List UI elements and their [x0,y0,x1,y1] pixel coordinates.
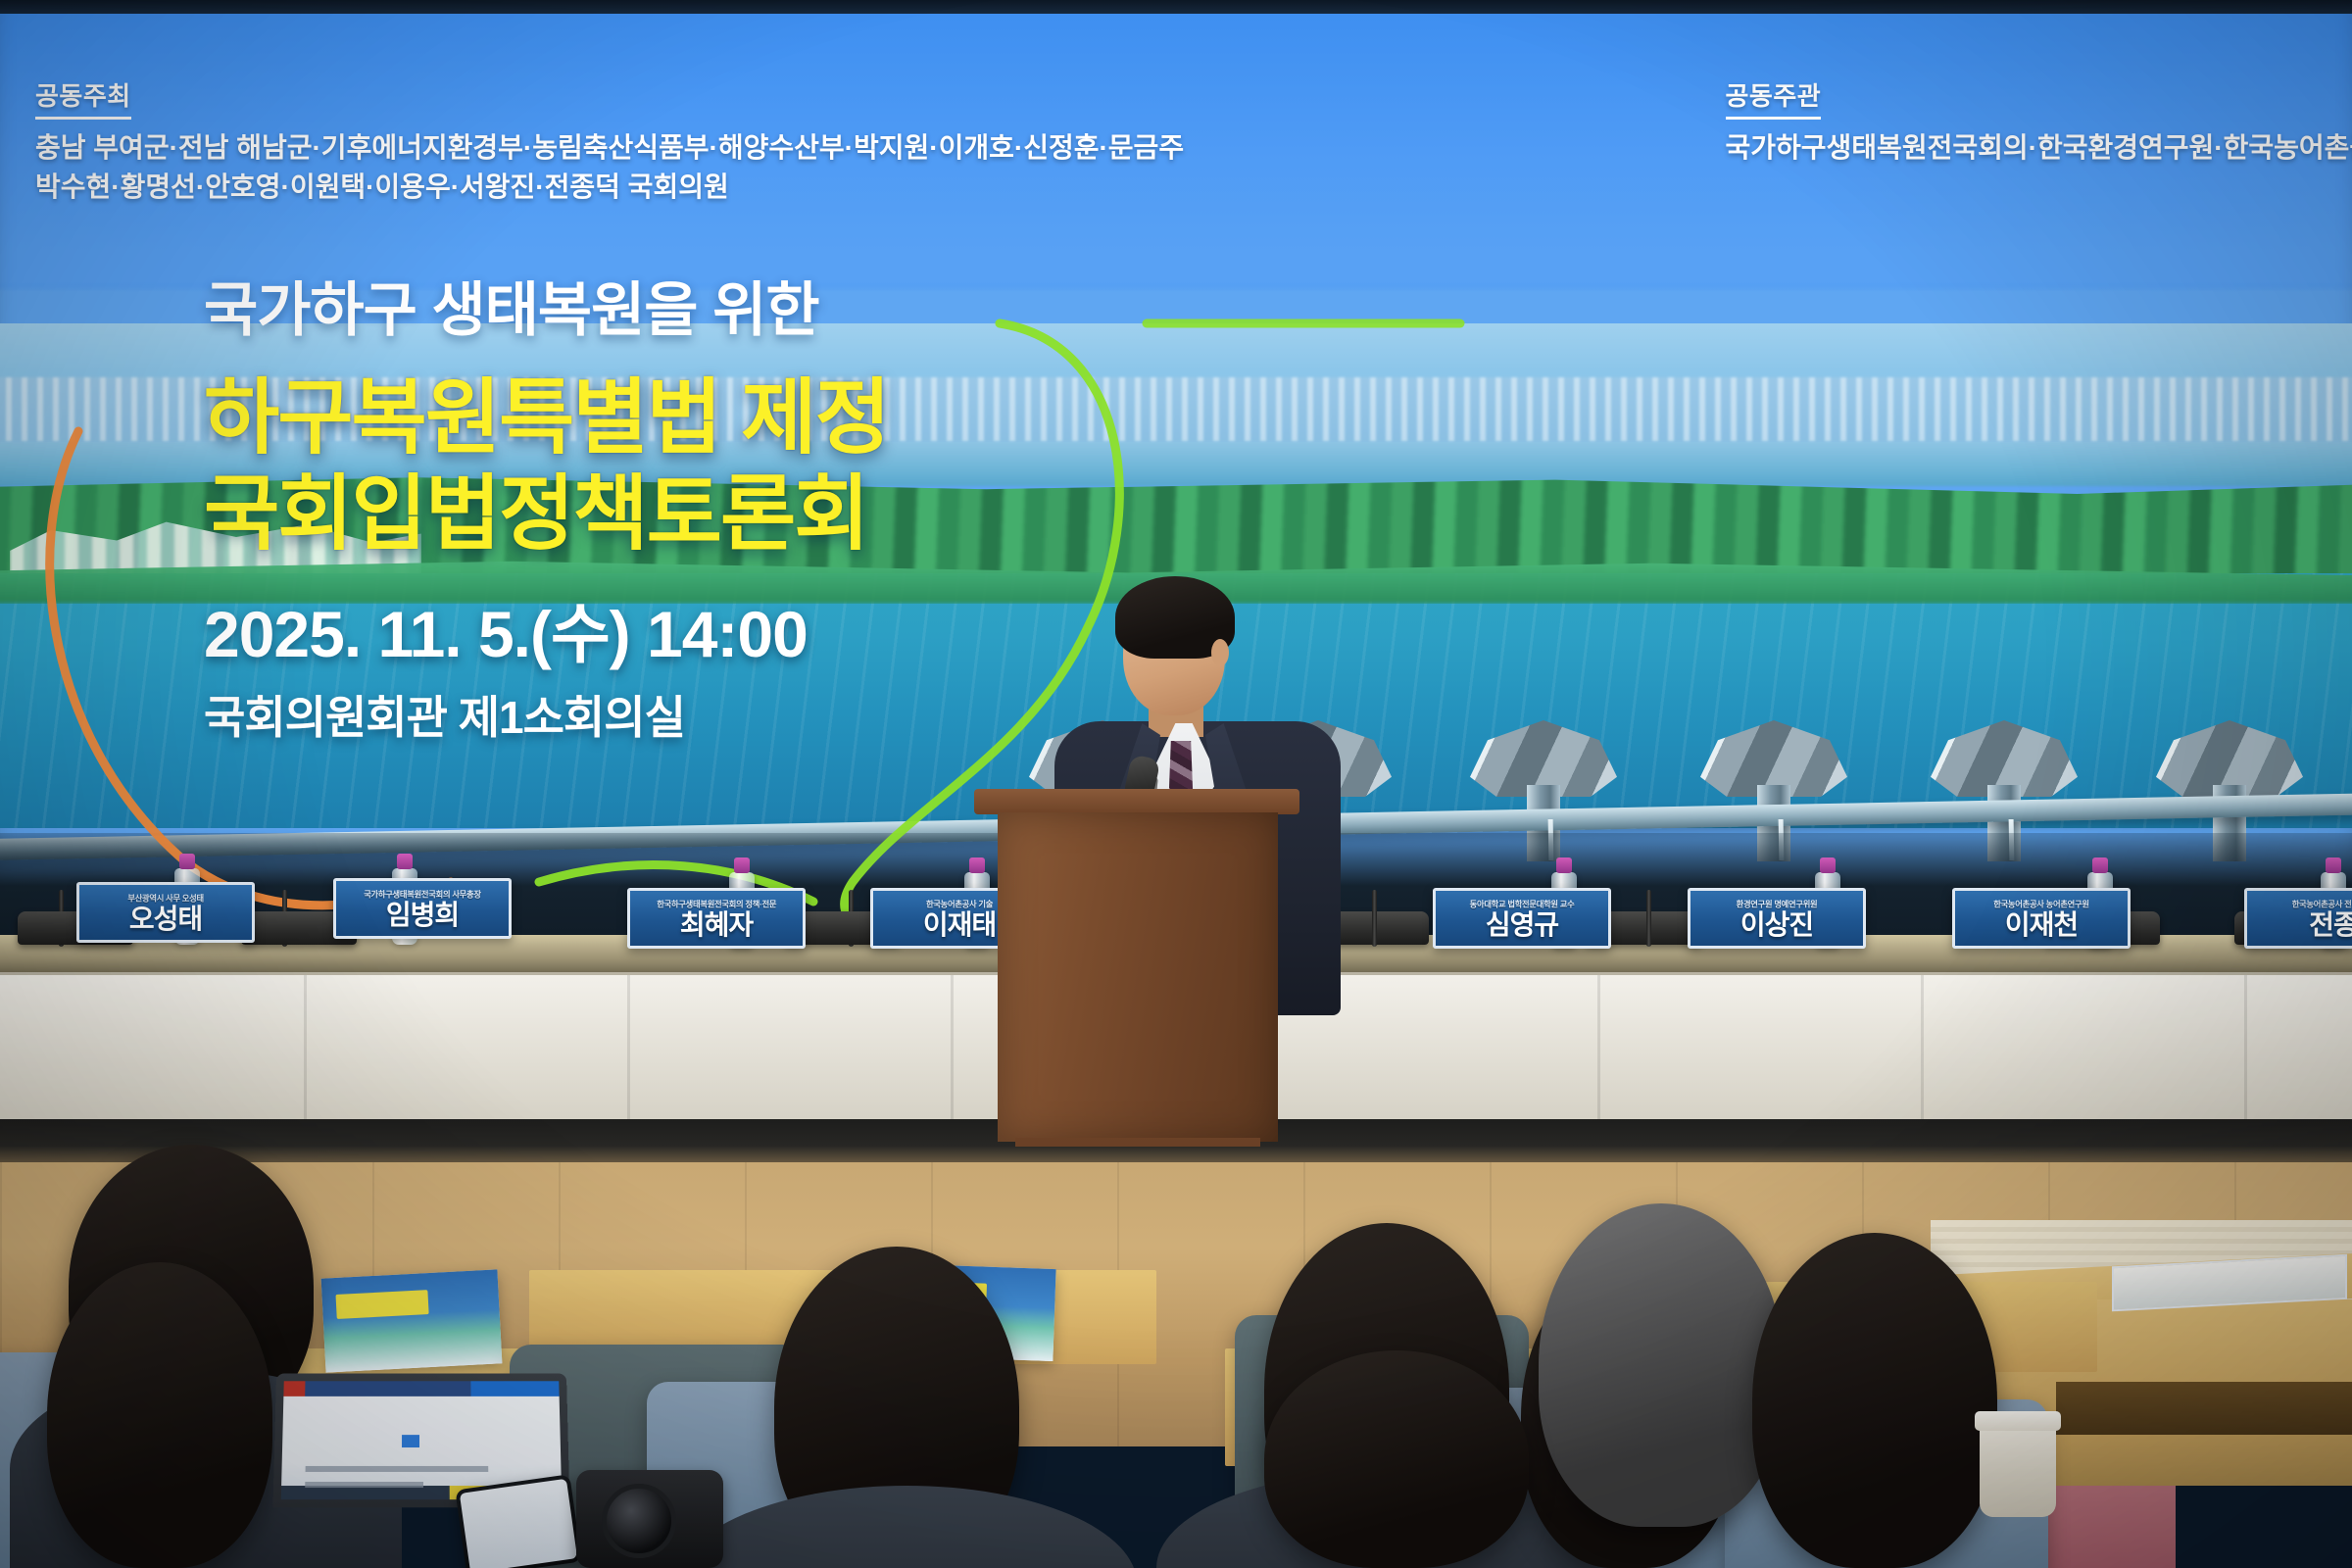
banner-title-line-1: 하구복원특별법 제정 [204,369,1243,465]
nameplate-jeon-jong: 한국농어촌공사 전략·기획 전종 [2244,888,2352,949]
audience-member-head [1539,1203,1784,1527]
organizer-heading: 공동주관 [1726,76,1822,120]
press-camera [576,1470,723,1568]
nameplate-name: 임병희 [386,901,459,929]
banner-credits: 공동주최 충남 부여군·전남 해남군·기후에너지환경부·농림축산식품부·해양수산… [0,76,2352,207]
nameplate-im-byeong-hui: 국가하구생태복원전국회의 사무총장 임병희 [333,878,512,939]
organizer-line-1: 국가하구생태복원전국회의·한국환경연구원·한국농어촌공사·한 [1726,128,2352,168]
nameplate-role: 동아대학교 법학전문대학원 교수 [1470,898,1575,909]
host-credit-block: 공동주최 충남 부여군·전남 해남군·기후에너지환경부·농림축산식품부·해양수산… [35,76,1184,207]
host-line-2: 박수현·황명선·안호영·이원택·이용우·서왕진·전종덕 국회의원 [35,168,1184,207]
host-line-1: 충남 부여군·전남 해남군·기후에너지환경부·농림축산식품부·해양수산부·박지원… [35,128,1184,168]
program-booklet [321,1269,503,1372]
laptop-text-cursor [402,1435,419,1447]
nameplate-role: 한국하구생태복원전국회의 정책·전문 [657,898,776,909]
nameplate-name: 전종 [2309,910,2352,939]
nameplate-lee-jae-cheon: 한국농어촌공사 농어촌연구원 이재천 [1952,888,2131,949]
banner-title-line-2: 국회입법정책토론회 [204,465,1243,562]
nameplate-role: 한국농어촌공사 농어촌연구원 [1993,898,2088,909]
organizer-credit-block: 공동주관 국가하구생태복원전국회의·한국환경연구원·한국농어촌공사·한 [1726,76,2352,207]
host-heading: 공동주최 [35,76,131,120]
nameplate-name: 이상진 [1740,910,1813,939]
nameplate-role: 부산광역시 사무 오성태 [127,892,203,904]
screen-bezel [0,0,2352,14]
banner-subtitle: 국가하구 생태복원을 위한 [204,263,1243,348]
nameplate-sim-young-gyu: 동아대학교 법학전문대학원 교수 심영규 [1433,888,1611,949]
nameplate-name: 이재천 [2005,910,2078,939]
nameplate-name: 최혜자 [680,910,753,939]
nameplate-name: 심영규 [1486,910,1558,939]
podium-top [974,789,1299,814]
conference-photo-scene: 공동주최 충남 부여군·전남 해남군·기후에너지환경부·농림축산식품부·해양수산… [0,0,2352,1568]
audience-member-head [1752,1233,1997,1568]
laptop-app-toolbar [283,1381,559,1396]
smartphone-screen[interactable] [460,1479,577,1568]
audience-member-head [1264,1350,1529,1568]
nameplate-role: 국가하구생태복원전국회의 사무총장 [364,888,480,900]
audience-member-head [47,1262,272,1568]
speaker-ear [1211,639,1229,666]
coffee-cup [1980,1423,2056,1517]
nameplate-choi-hye-ja: 한국하구생태복원전국회의 정책·전문 최혜자 [627,888,806,949]
coffee-cup-lid [1975,1411,2061,1431]
camera-lens-icon [602,1484,676,1558]
nameplate-oh-seong-tae: 부산광역시 사무 오성태 오성태 [76,882,255,943]
nameplate-role: 환경연구원 명예연구위원 [1737,898,1818,909]
nameplate-lee-sang-jin: 환경연구원 명예연구위원 이상진 [1688,888,1866,949]
nameplate-name: 오성태 [129,905,202,933]
podium-front-panel [998,812,1278,1142]
audience-smartphone[interactable] [455,1474,581,1568]
nameplate-role: 한국농어촌공사 전략·기획 [2291,898,2352,909]
